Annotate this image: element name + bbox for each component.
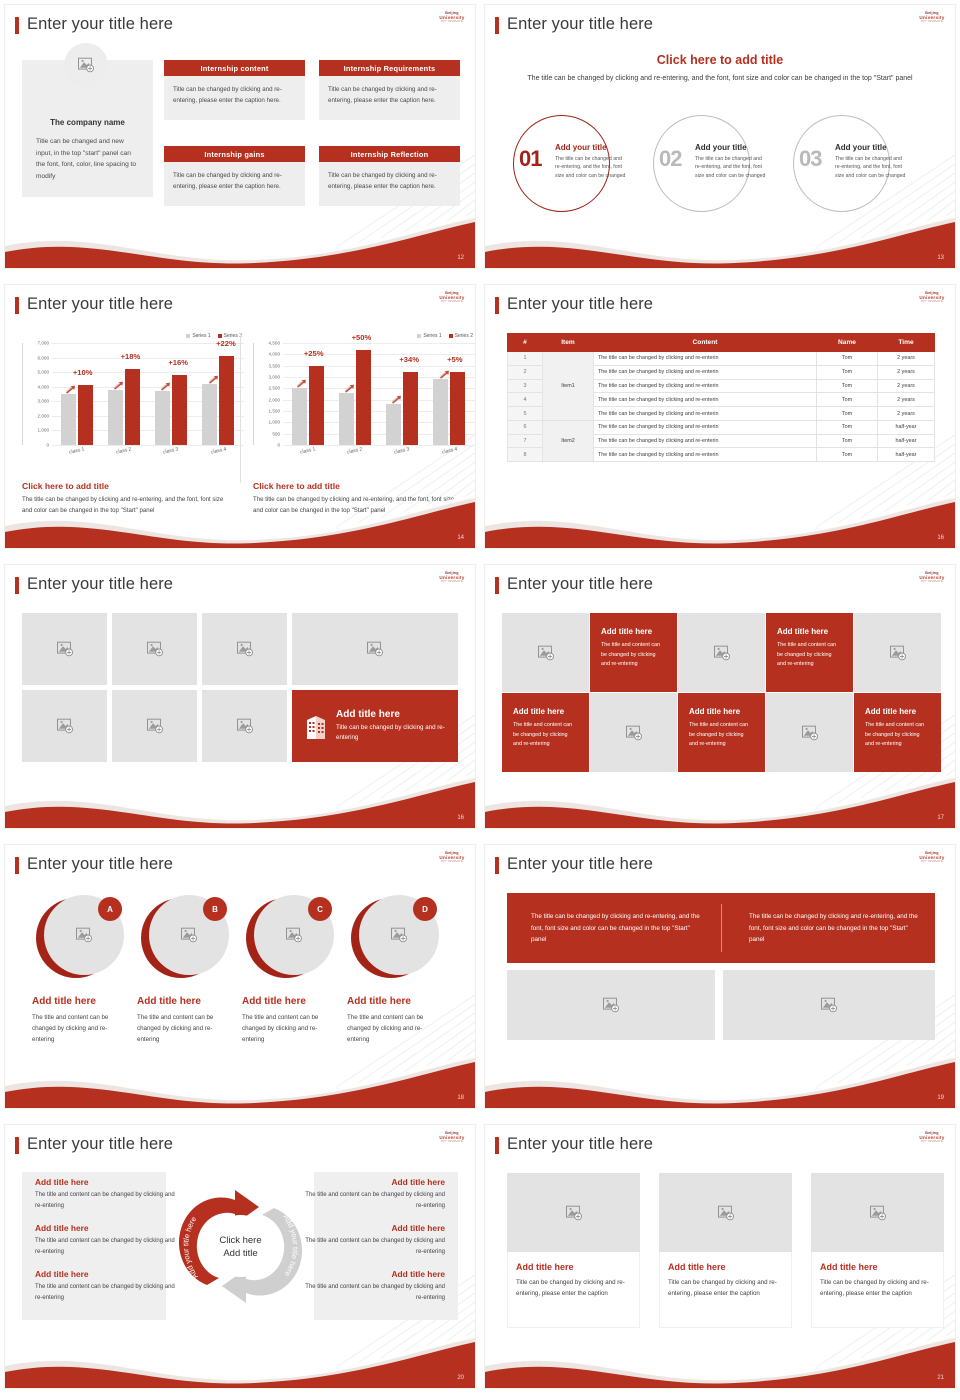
step-title: Add your title bbox=[695, 143, 767, 152]
y-tick-label: 2,500 bbox=[269, 386, 281, 391]
image-placeholder[interactable] bbox=[723, 970, 935, 1040]
y-tick-label: 3,000 bbox=[38, 399, 50, 404]
y-tick-label: 1,000 bbox=[38, 428, 50, 433]
image-placeholder-icon bbox=[146, 719, 163, 734]
trend-up-arrow-icon bbox=[391, 395, 402, 404]
company-name: The company name bbox=[22, 118, 153, 127]
percent-annotation: +18% bbox=[121, 352, 141, 361]
highlight-card[interactable]: Add title here Title can be changed by c… bbox=[292, 690, 458, 762]
image-placeholder-icon bbox=[717, 1205, 734, 1220]
table-cell-time: half-year bbox=[878, 434, 935, 448]
cycle-item-body: The title and content can be changed by … bbox=[35, 1282, 175, 1303]
slide-thumbnail[interactable]: Enter your title here BeijingUniversityP… bbox=[0, 840, 480, 1120]
percent-annotation: +34% bbox=[399, 355, 419, 364]
trend-up-arrow-icon bbox=[296, 379, 307, 388]
info-card-body: Title can be changed by clicking and re-… bbox=[164, 76, 305, 120]
image-placeholder[interactable] bbox=[678, 613, 765, 692]
image-placeholder[interactable] bbox=[507, 970, 715, 1040]
footer-wave-decoration bbox=[5, 1328, 475, 1388]
step-number: 03 bbox=[799, 146, 821, 172]
image-placeholder[interactable] bbox=[22, 613, 107, 685]
bar-series-2 bbox=[309, 366, 324, 445]
text-card[interactable]: Add title here The title and content can… bbox=[766, 613, 853, 692]
table-cell-name: Tom bbox=[817, 434, 878, 448]
highlight-card-body: Title can be changed by clicking and re-… bbox=[336, 723, 445, 743]
table-header-cell: Name bbox=[817, 334, 878, 352]
bar-chart: Series 1 Series 2 01,0002,0003,0004,0005… bbox=[22, 333, 244, 493]
cycle-item[interactable]: Add title here The title and content can… bbox=[35, 1177, 175, 1211]
slide-number: 19 bbox=[937, 1095, 944, 1101]
table-cell-time: 2 years bbox=[878, 352, 935, 366]
image-placeholder[interactable] bbox=[502, 613, 589, 692]
media-card-title: Add title here bbox=[516, 1262, 631, 1272]
table-cell-time: 2 years bbox=[878, 393, 935, 407]
slide-thumbnail[interactable]: Enter your title here BeijingUniversityP… bbox=[480, 560, 960, 840]
cycle-item-title: Add title here bbox=[305, 1177, 445, 1187]
footer-wave-decoration bbox=[485, 488, 955, 548]
cycle-item-title: Add title here bbox=[35, 1223, 175, 1233]
slide-16-table: Enter your title here BeijingUniversityP… bbox=[485, 285, 955, 548]
text-card-body: The title and content can be changed by … bbox=[513, 721, 578, 750]
table-header-cell: Time bbox=[878, 334, 935, 352]
footer-wave-decoration bbox=[485, 768, 955, 828]
table-cell-time: 2 years bbox=[878, 407, 935, 421]
x-tick-label: class 1 bbox=[68, 446, 85, 455]
image-placeholder-icon bbox=[286, 928, 303, 943]
slide-deck: Enter your title here BeijingUniversityP… bbox=[0, 0, 960, 1400]
cycle-center[interactable]: Add your title here Add your title here … bbox=[177, 1180, 304, 1313]
legend-item-series-1: Series 1 bbox=[417, 333, 441, 339]
cycle-item-title: Add title here bbox=[35, 1269, 175, 1279]
table-cell-content: The title can be changed by clicking and… bbox=[594, 407, 817, 421]
table-row[interactable]: 6Item2 The title can be changed by click… bbox=[508, 420, 935, 434]
media-card[interactable]: Add title here Title can be changed by c… bbox=[811, 1173, 944, 1328]
image-placeholder-icon bbox=[56, 719, 73, 734]
image-placeholder-icon bbox=[869, 1205, 886, 1220]
bar-series-1 bbox=[386, 404, 401, 445]
footer-wave-decoration bbox=[485, 1048, 955, 1108]
legend-item-series-2: Series 2 bbox=[218, 333, 242, 339]
step-body: The title can be changed and re-entering… bbox=[835, 155, 907, 180]
info-card-title: Internship Reflection bbox=[319, 146, 460, 162]
slide-number: 16 bbox=[457, 815, 464, 821]
media-card-body-wrap: Add title here Title can be changed by c… bbox=[811, 1252, 944, 1328]
bar-group bbox=[202, 343, 234, 445]
text-card-title: Add title here bbox=[689, 707, 754, 716]
info-card-body: Title can be changed by clicking and re-… bbox=[164, 162, 305, 206]
slide-thumbnail[interactable]: Enter your title here BeijingUniversityP… bbox=[0, 280, 480, 560]
text-card[interactable]: Add title here The title and content can… bbox=[590, 613, 677, 692]
image-placeholder-icon bbox=[78, 58, 95, 73]
image-placeholder[interactable] bbox=[202, 690, 287, 762]
y-tick-label: 4,500 bbox=[269, 341, 281, 346]
circle-item[interactable]: C Add title here The title and content c… bbox=[242, 895, 347, 1045]
y-tick-label: 7,000 bbox=[38, 341, 50, 346]
text-card[interactable]: Add title here The title and content can… bbox=[678, 693, 765, 772]
media-card[interactable]: Add title here Title can be changed by c… bbox=[659, 1173, 792, 1328]
step-text-block[interactable]: Add your title The title can be changed … bbox=[835, 143, 907, 180]
slide-number: 12 bbox=[457, 255, 464, 261]
circle-graphic: C bbox=[246, 895, 334, 983]
bars-container bbox=[53, 343, 242, 445]
bar-series-2 bbox=[403, 372, 418, 445]
table-cell-index: 7 bbox=[508, 434, 543, 448]
table-cell-name: Tom bbox=[817, 352, 878, 366]
image-placeholder-icon bbox=[821, 998, 838, 1013]
image-placeholder-icon bbox=[391, 928, 408, 943]
circle-item-title: Add title here bbox=[347, 996, 452, 1007]
percent-annotation: +50% bbox=[352, 333, 372, 342]
x-tick-label: class 2 bbox=[347, 446, 364, 455]
table-cell-name: Tom bbox=[817, 393, 878, 407]
image-placeholder-icon bbox=[146, 642, 163, 657]
headline: Click here to add title bbox=[485, 53, 955, 67]
x-tick-label: class 4 bbox=[210, 446, 227, 455]
table-cell-name: Tom bbox=[817, 420, 878, 434]
media-card-body: Title can be changed by clicking and re-… bbox=[668, 1277, 783, 1299]
footer-wave-decoration bbox=[5, 768, 475, 828]
y-tick-label: 1,000 bbox=[269, 420, 281, 425]
cycle-item[interactable]: Add title here The title and content can… bbox=[305, 1223, 445, 1257]
table-cell-content: The title can be changed by clicking and… bbox=[594, 379, 817, 393]
info-card-body: Title can be changed by clicking and re-… bbox=[319, 76, 460, 120]
table-cell-item: Item2 bbox=[543, 420, 594, 461]
step-title: Add your title bbox=[555, 143, 627, 152]
step-body: The title can be changed and re-entering… bbox=[695, 155, 767, 180]
trend-up-arrow-icon bbox=[65, 385, 76, 394]
media-card[interactable]: Add title here Title can be changed by c… bbox=[507, 1173, 640, 1328]
table-cell-index: 4 bbox=[508, 393, 543, 407]
cycle-item[interactable]: Add title here The title and content can… bbox=[305, 1177, 445, 1211]
table-cell-name: Tom bbox=[817, 379, 878, 393]
slide-number: 14 bbox=[457, 535, 464, 541]
company-image-placeholder[interactable] bbox=[64, 43, 108, 87]
percent-annotation: +10% bbox=[73, 368, 93, 377]
chart-legend: Series 1 Series 2 bbox=[417, 333, 473, 339]
y-tick-label: 4,000 bbox=[269, 352, 281, 357]
image-placeholder[interactable] bbox=[112, 613, 197, 685]
image-placeholder[interactable] bbox=[112, 690, 197, 762]
image-placeholder-icon bbox=[367, 642, 384, 657]
circle-graphic: B bbox=[141, 895, 229, 983]
x-tick-label: class 1 bbox=[299, 446, 316, 455]
cycle-item-body: The title and content can be changed by … bbox=[35, 1236, 175, 1257]
info-card[interactable]: Internship content Title can be changed … bbox=[164, 60, 305, 120]
y-axis: 05001,0001,5002,0002,5003,0003,5004,0004… bbox=[253, 343, 283, 445]
table-cell-time: 2 years bbox=[878, 379, 935, 393]
circle-item-body: The title and content can be changed by … bbox=[137, 1012, 233, 1045]
image-placeholder[interactable] bbox=[811, 1173, 944, 1252]
table-header-cell: # bbox=[508, 334, 543, 352]
cycle-item[interactable]: Add title here The title and content can… bbox=[35, 1223, 175, 1257]
image-placeholder[interactable] bbox=[292, 613, 458, 685]
cycle-item-title: Add title here bbox=[35, 1177, 175, 1187]
y-tick-label: 2,000 bbox=[269, 397, 281, 402]
bar-series-2 bbox=[78, 385, 93, 445]
slide-18: Enter your title here BeijingUniversityP… bbox=[5, 845, 475, 1108]
cycle-item-title: Add title here bbox=[305, 1223, 445, 1233]
y-tick-label: 5,000 bbox=[38, 370, 50, 375]
image-placeholder-icon bbox=[537, 645, 554, 660]
banner-text-left: The title can be changed by clicking and… bbox=[531, 911, 701, 946]
image-placeholder-icon bbox=[56, 642, 73, 657]
legend-item-series-1: Series 1 bbox=[186, 333, 210, 339]
info-card-body: Title can be changed by clicking and re-… bbox=[319, 162, 460, 206]
text-card-body: The title and content can be changed by … bbox=[777, 641, 842, 670]
table-cell-content: The title can be changed by clicking and… bbox=[594, 352, 817, 366]
media-card-body: Title can be changed by clicking and re-… bbox=[820, 1277, 935, 1299]
cycle-right-column: Add title here The title and content can… bbox=[305, 1177, 445, 1315]
slide-thumbnail[interactable]: Enter your title here BeijingUniversityP… bbox=[0, 0, 480, 280]
cycle-item[interactable]: Add title here The title and content can… bbox=[305, 1269, 445, 1303]
company-description: Title can be changed and new input, in t… bbox=[36, 136, 140, 182]
slide-number: 13 bbox=[937, 255, 944, 261]
y-tick-label: 6,000 bbox=[38, 355, 50, 360]
slide-thumbnail[interactable]: Enter your title here BeijingUniversityP… bbox=[480, 280, 960, 560]
step-number: 01 bbox=[519, 146, 541, 172]
banner-text-right: The title can be changed by clicking and… bbox=[749, 911, 919, 946]
chart-legend: Series 1 Series 2 bbox=[186, 333, 242, 339]
circle-graphic: A bbox=[36, 895, 124, 983]
legend-item-series-2: Series 2 bbox=[449, 333, 473, 339]
y-tick-label: 3,000 bbox=[269, 375, 281, 380]
step-text-block[interactable]: Add your title The title can be changed … bbox=[695, 143, 767, 180]
image-placeholder-icon bbox=[625, 725, 642, 740]
table-header-cell: Content bbox=[594, 334, 817, 352]
trend-up-arrow-icon bbox=[344, 384, 355, 393]
image-placeholder-icon bbox=[236, 719, 253, 734]
step-title: Add your title bbox=[835, 143, 907, 152]
slide-13: Enter your title here BeijingUniversityP… bbox=[485, 5, 955, 268]
x-tick-label: class 4 bbox=[441, 446, 458, 455]
table-cell-time: half-year bbox=[878, 420, 935, 434]
image-placeholder-icon bbox=[565, 1205, 582, 1220]
vertical-divider bbox=[240, 333, 241, 483]
cycle-item-title: Add title here bbox=[305, 1269, 445, 1279]
table-cell-content: The title can be changed by clicking and… bbox=[594, 434, 817, 448]
media-card-title: Add title here bbox=[820, 1262, 935, 1272]
text-card-title: Add title here bbox=[601, 627, 666, 636]
media-card-title: Add title here bbox=[668, 1262, 783, 1272]
info-card[interactable]: Internship gains Title can be changed by… bbox=[164, 146, 305, 206]
slide-14: Enter your title here BeijingUniversityP… bbox=[5, 285, 475, 548]
slide-16-gallery: Enter your title here BeijingUniversityP… bbox=[5, 565, 475, 828]
table-cell-name: Tom bbox=[817, 407, 878, 421]
x-tick-label: class 3 bbox=[163, 446, 180, 455]
circle-item[interactable]: D Add title here The title and content c… bbox=[347, 895, 452, 1045]
image-placeholder-icon bbox=[801, 725, 818, 740]
bar-series-2 bbox=[450, 372, 465, 445]
text-card-title: Add title here bbox=[777, 627, 842, 636]
table-cell-content: The title can be changed by clicking and… bbox=[594, 393, 817, 407]
percent-annotation: +5% bbox=[447, 355, 462, 364]
table-cell-index: 2 bbox=[508, 365, 543, 379]
table-cell-time: half-year bbox=[878, 448, 935, 462]
bar-series-2 bbox=[172, 375, 187, 445]
table-cell-content: The title can be changed by clicking and… bbox=[594, 448, 817, 462]
bar-series-1 bbox=[61, 394, 76, 445]
table-row[interactable]: 1Item1 The title can be changed by click… bbox=[508, 352, 935, 366]
media-card-body-wrap: Add title here Title can be changed by c… bbox=[659, 1252, 792, 1328]
cycle-item-body: The title and content can be changed by … bbox=[305, 1190, 445, 1211]
text-card-body: The title and content can be changed by … bbox=[689, 721, 754, 750]
y-tick-label: 3,500 bbox=[269, 363, 281, 368]
bar-group bbox=[61, 343, 93, 445]
image-placeholder[interactable] bbox=[590, 693, 677, 772]
text-card-title: Add title here bbox=[513, 707, 578, 716]
bars-container bbox=[284, 343, 473, 445]
slide-19: Enter your title here BeijingUniversityP… bbox=[485, 845, 955, 1108]
table-cell-index: 5 bbox=[508, 407, 543, 421]
info-card-title: Internship Requirements bbox=[319, 60, 460, 76]
bar-group bbox=[292, 343, 324, 445]
image-placeholder-icon bbox=[76, 928, 93, 943]
x-axis: class 1class 2class 3class 4 bbox=[53, 448, 242, 454]
slide-thumbnail[interactable]: Enter your title here BeijingUniversityP… bbox=[480, 840, 960, 1120]
circle-item-title: Add title here bbox=[242, 996, 347, 1007]
cycle-item-body: The title and content can be changed by … bbox=[305, 1282, 445, 1303]
image-placeholder[interactable] bbox=[202, 613, 287, 685]
bar-series-1 bbox=[292, 388, 307, 445]
footer-wave-decoration bbox=[5, 488, 475, 548]
image-placeholder-icon bbox=[236, 642, 253, 657]
table-cell-item: Item1 bbox=[543, 352, 594, 421]
percent-annotation: +16% bbox=[168, 358, 188, 367]
y-axis: 01,0002,0003,0004,0005,0006,0007,000 bbox=[22, 343, 52, 445]
slide-21: Enter your title here BeijingUniversityP… bbox=[485, 1125, 955, 1388]
table-cell-name: Tom bbox=[817, 365, 878, 379]
y-tick-label: 500 bbox=[272, 431, 280, 436]
x-tick-label: class 3 bbox=[394, 446, 411, 455]
text-card[interactable]: Add title here The title and content can… bbox=[854, 693, 941, 772]
trend-up-arrow-icon bbox=[439, 370, 450, 379]
y-tick-label: 0 bbox=[277, 443, 280, 448]
table-cell-time: 2 years bbox=[878, 365, 935, 379]
table-cell-index: 1 bbox=[508, 352, 543, 366]
slide-thumbnail[interactable]: Enter your title here BeijingUniversityP… bbox=[0, 1120, 480, 1400]
slide-20: Enter your title here BeijingUniversityP… bbox=[5, 1125, 475, 1388]
media-card-body: Title can be changed by clicking and re-… bbox=[516, 1277, 631, 1299]
text-card-body: The title and content can be changed by … bbox=[865, 721, 930, 750]
footer-wave-decoration bbox=[5, 1048, 475, 1108]
info-card[interactable]: Internship Requirements Title can be cha… bbox=[319, 60, 460, 120]
highlight-card-title: Add title here bbox=[336, 709, 445, 720]
media-card-body-wrap: Add title here Title can be changed by c… bbox=[507, 1252, 640, 1328]
data-table: #ItemContentNameTime 1Item1 The title ca… bbox=[507, 333, 935, 462]
step-body: The title can be changed and re-entering… bbox=[555, 155, 627, 180]
circle-item-body: The title and content can be changed by … bbox=[347, 1012, 443, 1045]
circle-item-body: The title and content can be changed by … bbox=[32, 1012, 128, 1045]
info-card-title: Internship gains bbox=[164, 146, 305, 162]
image-placeholder[interactable] bbox=[507, 1173, 640, 1252]
circle-graphic: D bbox=[351, 895, 439, 983]
cycle-item-body: The title and content can be changed by … bbox=[35, 1190, 175, 1211]
table-cell-index: 3 bbox=[508, 379, 543, 393]
bar-group bbox=[339, 343, 371, 445]
info-card-title: Internship content bbox=[164, 60, 305, 76]
trend-up-arrow-icon bbox=[160, 382, 171, 391]
image-placeholder-icon bbox=[713, 645, 730, 660]
slide-number: 21 bbox=[937, 1375, 944, 1381]
slide-number: 17 bbox=[937, 815, 944, 821]
y-tick-label: 4,000 bbox=[38, 384, 50, 389]
slide-number: 16 bbox=[937, 535, 944, 541]
slide-number: 20 bbox=[457, 1375, 464, 1381]
slide-thumbnail[interactable]: Enter your title here BeijingUniversityP… bbox=[480, 1120, 960, 1400]
bar-series-1 bbox=[202, 384, 217, 445]
image-placeholder[interactable] bbox=[766, 693, 853, 772]
circle-badge: A bbox=[98, 897, 122, 921]
banner-divider bbox=[721, 904, 722, 952]
slide-thumbnail[interactable]: Enter your title here BeijingUniversityP… bbox=[480, 0, 960, 280]
red-text-banner[interactable]: The title can be changed by clicking and… bbox=[507, 893, 935, 963]
step-number: 02 bbox=[659, 146, 681, 172]
bar-series-2 bbox=[125, 369, 140, 446]
table-cell-index: 8 bbox=[508, 448, 543, 462]
table-cell-name: Tom bbox=[817, 448, 878, 462]
image-placeholder[interactable] bbox=[854, 613, 941, 692]
image-placeholder[interactable] bbox=[659, 1173, 792, 1252]
table-cell-content: The title can be changed by clicking and… bbox=[594, 365, 817, 379]
percent-annotation: +25% bbox=[304, 349, 324, 358]
slide-number: 18 bbox=[457, 1095, 464, 1101]
cycle-left-column: Add title here The title and content can… bbox=[35, 1177, 175, 1315]
y-tick-label: 0 bbox=[46, 443, 49, 448]
subheadline: The title can be changed by clicking and… bbox=[485, 73, 955, 85]
footer-wave-decoration bbox=[485, 1328, 955, 1388]
x-tick-label: class 2 bbox=[116, 446, 133, 455]
trend-up-arrow-icon bbox=[113, 381, 124, 390]
image-placeholder-icon bbox=[889, 645, 906, 660]
circle-item[interactable]: A Add title here The title and content c… bbox=[32, 895, 137, 1045]
circle-item-body: The title and content can be changed by … bbox=[242, 1012, 338, 1045]
bar-series-2 bbox=[219, 356, 234, 445]
slide-12: Enter your title here BeijingUniversityP… bbox=[5, 5, 475, 268]
circle-item[interactable]: B Add title here The title and content c… bbox=[137, 895, 242, 1045]
cycle-item-body: The title and content can be changed by … bbox=[305, 1236, 445, 1257]
percent-annotation: +22% bbox=[216, 339, 236, 348]
image-placeholder[interactable] bbox=[22, 690, 107, 762]
image-grid: Add title here Title can be changed by c… bbox=[22, 613, 458, 763]
table-cell-index: 6 bbox=[508, 420, 543, 434]
circle-badge: B bbox=[203, 897, 227, 921]
bar-series-1 bbox=[108, 390, 123, 445]
text-card-title: Add title here bbox=[865, 707, 930, 716]
y-tick-label: 1,500 bbox=[269, 409, 281, 414]
x-axis: class 1class 2class 3class 4 bbox=[284, 448, 473, 454]
cycle-center-label: Click hereAdd title bbox=[219, 1234, 261, 1260]
text-card-body: The title and content can be changed by … bbox=[601, 641, 666, 670]
table-header-cell: Item bbox=[543, 334, 594, 352]
slide-17: Enter your title here BeijingUniversityP… bbox=[485, 565, 955, 828]
circle-item-title: Add title here bbox=[32, 996, 137, 1007]
bar-series-1 bbox=[433, 379, 448, 445]
step-text-block[interactable]: Add your title The title can be changed … bbox=[555, 143, 627, 180]
image-placeholder-icon bbox=[181, 928, 198, 943]
bar-series-2 bbox=[356, 350, 371, 445]
bar-series-1 bbox=[339, 393, 354, 445]
circle-badge: C bbox=[308, 897, 332, 921]
bar-chart: Series 1 Series 2 05001,0001,5002,0002,5… bbox=[253, 333, 475, 493]
circle-item-title: Add title here bbox=[137, 996, 242, 1007]
info-card[interactable]: Internship Reflection Title can be chang… bbox=[319, 146, 460, 206]
table-cell-content: The title can be changed by clicking and… bbox=[594, 420, 817, 434]
cycle-item[interactable]: Add title here The title and content can… bbox=[35, 1269, 175, 1303]
footer-wave-decoration bbox=[5, 208, 475, 268]
building-icon bbox=[305, 714, 327, 739]
text-card[interactable]: Add title here The title and content can… bbox=[502, 693, 589, 772]
slide-thumbnail[interactable]: Enter your title here BeijingUniversityP… bbox=[0, 560, 480, 840]
